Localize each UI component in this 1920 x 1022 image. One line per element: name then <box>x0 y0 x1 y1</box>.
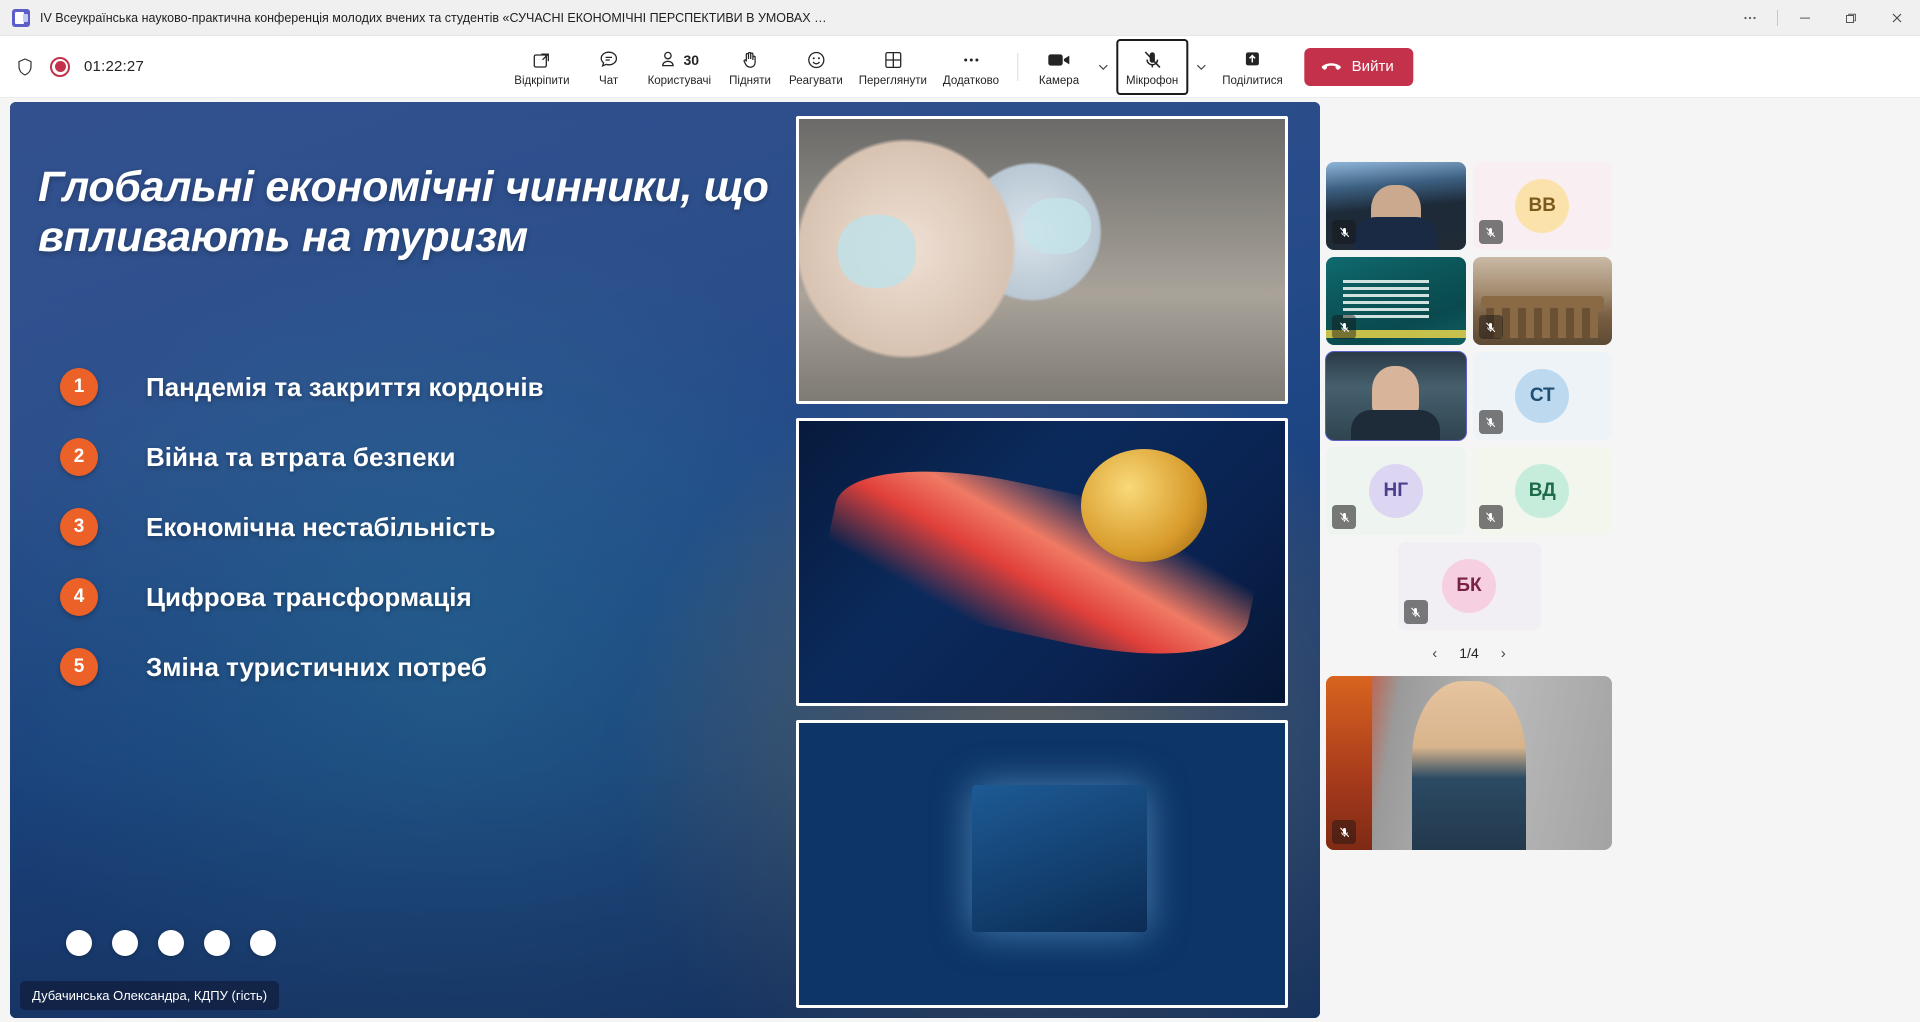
self-view-tile[interactable] <box>1326 676 1612 850</box>
photo-crowd-masks <box>796 116 1288 404</box>
raise-hand-label: Підняти <box>729 75 771 87</box>
slide-decoration-dots <box>66 930 276 956</box>
people-button[interactable]: 30 Користувачі <box>640 39 719 95</box>
list-item-number: 4 <box>60 578 98 616</box>
titlebar-more-icon[interactable] <box>1727 0 1773 36</box>
list-item: 2 Війна та втрата безпеки <box>60 422 544 492</box>
react-button[interactable]: Реагувати <box>781 39 851 95</box>
people-label: Користувачі <box>648 75 711 87</box>
restore-icon[interactable] <box>1828 0 1874 36</box>
list-item-number: 3 <box>60 508 98 546</box>
participant-tile-4[interactable] <box>1473 257 1613 345</box>
shield-icon[interactable] <box>14 56 36 78</box>
list-item-text: Зміна туристичних потреб <box>146 652 487 683</box>
participant-rail: ВВ СТ <box>1326 104 1612 1016</box>
mic-muted-icon <box>1332 315 1356 339</box>
list-item: 5 Зміна туристичних потреб <box>60 632 544 702</box>
raised-hand-icon <box>739 47 761 73</box>
window-title: IV Всеукраїнська науково-практична конфе… <box>40 11 827 25</box>
raise-hand-button[interactable]: Підняти <box>719 39 781 95</box>
avatar: НГ <box>1369 464 1423 518</box>
recording-indicator-icon <box>50 57 70 77</box>
more-options-button[interactable]: Додатково <box>935 39 1007 95</box>
participant-tile-3[interactable] <box>1326 257 1466 345</box>
participant-grid: ВВ СТ <box>1326 162 1612 630</box>
share-button[interactable]: Поділитися <box>1214 39 1290 95</box>
mic-muted-icon <box>1479 315 1503 339</box>
camera-label: Камера <box>1039 75 1079 87</box>
slide-content: Глобальні економічні чинники, що впливаю… <box>10 102 1320 1018</box>
list-item: 1 Пандемія та закриття кордонів <box>60 352 544 422</box>
unpin-button[interactable]: Відкріпити <box>506 39 577 95</box>
open-new-window-icon <box>531 47 553 73</box>
leave-label: Вийти <box>1352 58 1394 75</box>
slide-photo-column <box>796 116 1288 1008</box>
title-bar: IV Всеукраїнська науково-практична конфе… <box>0 0 1920 36</box>
titlebar-divider <box>1777 10 1778 26</box>
toolbar-divider <box>1017 53 1018 81</box>
participant-tile-7[interactable]: НГ <box>1326 447 1466 535</box>
participant-pager: ‹ 1/4 › <box>1326 636 1612 670</box>
photo-digital-world <box>796 720 1288 1008</box>
microphone-label: Мікрофон <box>1126 75 1178 87</box>
participant-tile-8[interactable]: ВД <box>1473 447 1613 535</box>
presenter-name-label: Дубачинська Олександра, КДПУ (гість) <box>20 981 279 1010</box>
view-button[interactable]: Переглянути <box>851 39 935 95</box>
unpin-label: Відкріпити <box>514 75 569 87</box>
slide-numbered-list: 1 Пандемія та закриття кордонів 2 Війна … <box>60 352 544 702</box>
share-label: Поділитися <box>1222 75 1282 87</box>
chat-bubble-icon <box>597 47 620 73</box>
mic-muted-icon <box>1332 220 1356 244</box>
camera-icon <box>1046 47 1072 73</box>
microphone-chevron-down-icon[interactable] <box>1188 47 1214 87</box>
slide-title: Глобальні економічні чинники, що впливаю… <box>38 162 868 263</box>
teams-logo-icon <box>12 9 30 27</box>
list-item: 4 Цифрова трансформація <box>60 562 544 632</box>
mic-muted-icon <box>1479 220 1503 244</box>
list-item-text: Цифрова трансформація <box>146 582 472 613</box>
minimize-icon[interactable] <box>1782 0 1828 36</box>
ellipsis-icon <box>960 47 982 73</box>
mic-muted-icon <box>1404 600 1428 624</box>
close-icon[interactable] <box>1874 0 1920 36</box>
list-item-text: Пандемія та закриття кордонів <box>146 372 544 403</box>
react-label: Реагувати <box>789 75 843 87</box>
phone-hangup-icon <box>1321 60 1343 74</box>
participant-tile-9[interactable]: БК <box>1398 542 1541 630</box>
view-label: Переглянути <box>859 75 927 87</box>
participant-video <box>1326 352 1466 440</box>
people-count: 30 <box>684 52 700 68</box>
share-up-arrow-icon <box>1241 47 1263 73</box>
camera-button[interactable]: Камера <box>1028 39 1090 95</box>
meeting-toolbar: 01:22:27 Відкріпити Чат 30 Користувачі <box>0 36 1920 98</box>
pager-prev-icon[interactable]: ‹ <box>1426 643 1443 664</box>
meeting-stage: Глобальні економічні чинники, що впливаю… <box>0 98 1920 1022</box>
participant-tile-1[interactable] <box>1326 162 1466 250</box>
participant-tile-6[interactable]: СТ <box>1473 352 1613 440</box>
title-bar-left: IV Всеукраїнська науково-практична конфе… <box>0 9 1727 27</box>
list-item-text: Економічна нестабільність <box>146 512 495 543</box>
mic-muted-icon <box>1332 820 1356 844</box>
list-item-text: Війна та втрата безпеки <box>146 442 456 473</box>
microphone-muted-icon <box>1140 47 1164 73</box>
list-item-number: 2 <box>60 438 98 476</box>
photo-falling-graph <box>796 418 1288 706</box>
chat-button[interactable]: Чат <box>578 39 640 95</box>
mic-muted-icon <box>1479 505 1503 529</box>
list-item-number: 1 <box>60 368 98 406</box>
camera-chevron-down-icon[interactable] <box>1090 47 1116 87</box>
avatar: СТ <box>1515 369 1569 423</box>
mic-muted-icon <box>1332 505 1356 529</box>
participant-tile-2[interactable]: ВВ <box>1473 162 1613 250</box>
more-options-label: Додатково <box>943 75 999 87</box>
toolbar-left-group: 01:22:27 <box>0 56 144 78</box>
avatar: БК <box>1442 559 1496 613</box>
chat-label: Чат <box>599 75 618 87</box>
microphone-button[interactable]: Мікрофон <box>1116 39 1188 95</box>
pager-label: 1/4 <box>1459 645 1478 661</box>
leave-button[interactable]: Вийти <box>1305 48 1414 86</box>
avatar: ВВ <box>1515 179 1569 233</box>
shared-screen[interactable]: Глобальні економічні чинники, що впливаю… <box>10 102 1320 1018</box>
person-icon: 30 <box>660 47 700 73</box>
smiley-icon <box>805 47 827 73</box>
list-item: 3 Економічна нестабільність <box>60 492 544 562</box>
avatar: ВД <box>1515 464 1569 518</box>
meeting-timer: 01:22:27 <box>84 58 144 75</box>
mic-muted-icon <box>1479 410 1503 434</box>
pager-next-icon[interactable]: › <box>1495 643 1512 664</box>
toolbar-center-group: Відкріпити Чат 30 Користувачі Підняти <box>506 36 1413 98</box>
grid-view-icon <box>882 47 904 73</box>
participant-tile-5[interactable] <box>1326 352 1466 440</box>
window-controls <box>1727 0 1920 36</box>
list-item-number: 5 <box>60 648 98 686</box>
